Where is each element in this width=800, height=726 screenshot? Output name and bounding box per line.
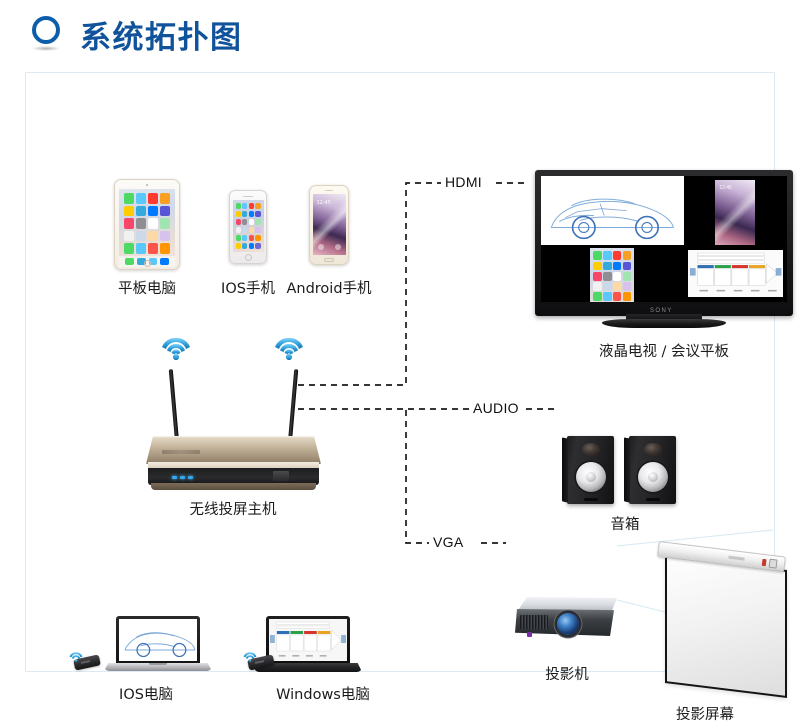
android-phone-icon: 12:45 (309, 185, 349, 265)
node-label-ios-laptop: IOS电脑 (119, 683, 173, 704)
speakers-icon (563, 436, 687, 524)
antenna-left (169, 369, 179, 441)
macbook-icon (104, 616, 212, 678)
projector-icon (513, 591, 623, 661)
connection-label-audio: AUDIO (469, 400, 523, 416)
node-label-projection-screen: 投影屏幕 (676, 703, 734, 724)
node-label-tablet: 平板电脑 (118, 277, 176, 298)
android-clock-text: 12:45 (317, 201, 331, 207)
node-label-projector: 投影机 (545, 663, 589, 684)
projection-screen-icon (658, 541, 800, 726)
node-label-tv: 液晶电视 / 会议平板 (599, 340, 729, 361)
blue-ring-icon (30, 16, 64, 50)
tv-quadrant-tablet (541, 245, 684, 302)
connection-label-vga: VGA (429, 534, 467, 550)
topology-diagram: HDMI AUDIO VGA 平板电脑 IOS手机 12:45 (25, 72, 775, 672)
node-label-win-laptop: Windows电脑 (276, 683, 370, 704)
wifi-signal-icon (272, 333, 306, 361)
wifi-dongle-icon (68, 655, 98, 669)
page-header: 系统拓扑图 (0, 0, 800, 72)
page-title: 系统拓扑图 (80, 12, 243, 57)
wifi-dongle-icon (242, 655, 272, 669)
node-label-android-phone: Android手机 (286, 277, 371, 298)
tablet-icon (114, 179, 180, 270)
node-label-host: 无线投屏主机 (190, 498, 277, 519)
tv-quadrant-car-sketch (541, 176, 684, 245)
iphone-icon (229, 190, 267, 264)
antenna-right (288, 369, 298, 441)
wifi-signal-icon (159, 333, 193, 361)
connection-label-hdmi: HDMI (441, 174, 486, 190)
node-label-ios-phone: IOS手机 (221, 277, 275, 298)
tv-quadrant-chart (684, 245, 787, 302)
tv-quadrant-phone: 12:45 (684, 176, 787, 245)
wireless-router-icon (146, 331, 321, 491)
television-icon: 12:45 (535, 170, 793, 330)
